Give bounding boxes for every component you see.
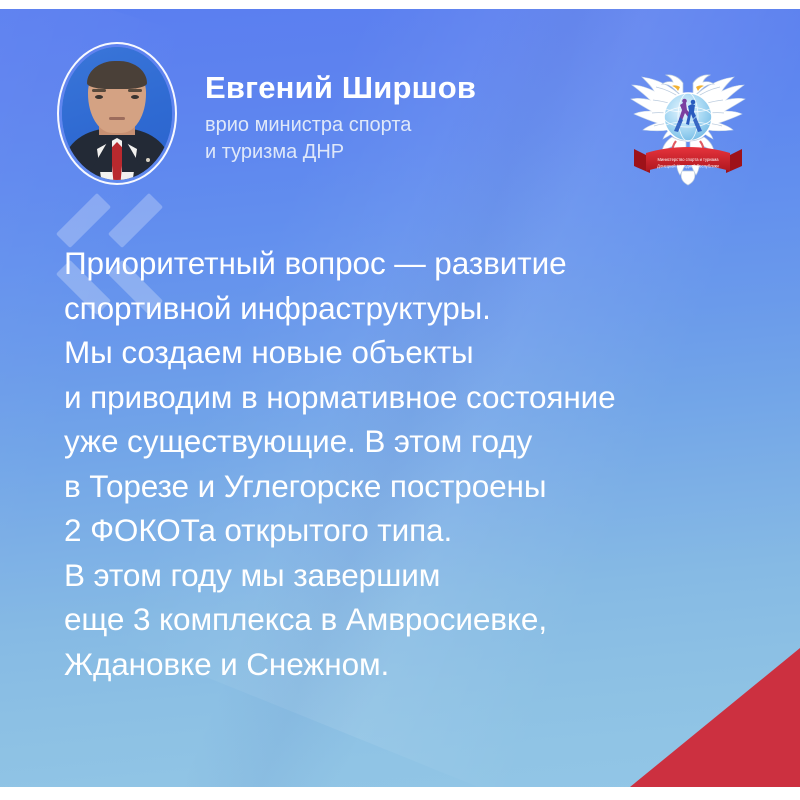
card-header: Евгений Ширшов врио министра спорта и ту… bbox=[0, 9, 800, 209]
emblem-ribbon-line-1: Министерство спорта и туризма bbox=[658, 157, 720, 162]
quote-card: Евгений Ширшов врио министра спорта и ту… bbox=[0, 9, 800, 787]
person-role: врио министра спорта и туризма ДНР bbox=[205, 112, 605, 166]
emblem-ribbon-line-2: Донецкой Народной Республики bbox=[657, 164, 719, 169]
header-text-block: Евгений Ширшов врио министра спорта и ту… bbox=[205, 71, 605, 166]
quote-text: Приоритетный вопрос — развитие спортивно… bbox=[64, 241, 774, 686]
poster-canvas: Евгений Ширшов врио министра спорта и ту… bbox=[0, 0, 800, 800]
avatar bbox=[57, 42, 177, 185]
ministry-emblem-icon: Министерство спорта и туризма Донецкой Н… bbox=[620, 53, 756, 189]
avatar-ring bbox=[57, 42, 177, 185]
person-name: Евгений Ширшов bbox=[205, 71, 605, 105]
